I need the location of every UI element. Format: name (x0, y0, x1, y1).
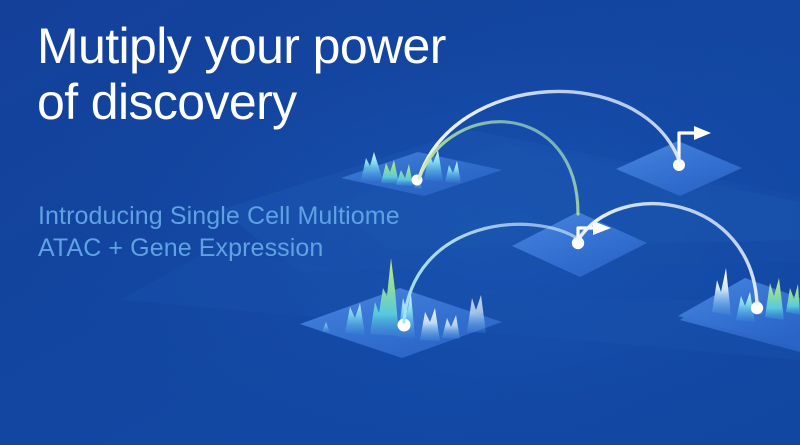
promo-banner: Mutiply your power of discovery Introduc… (0, 0, 800, 445)
isometric-illustration (0, 0, 800, 445)
